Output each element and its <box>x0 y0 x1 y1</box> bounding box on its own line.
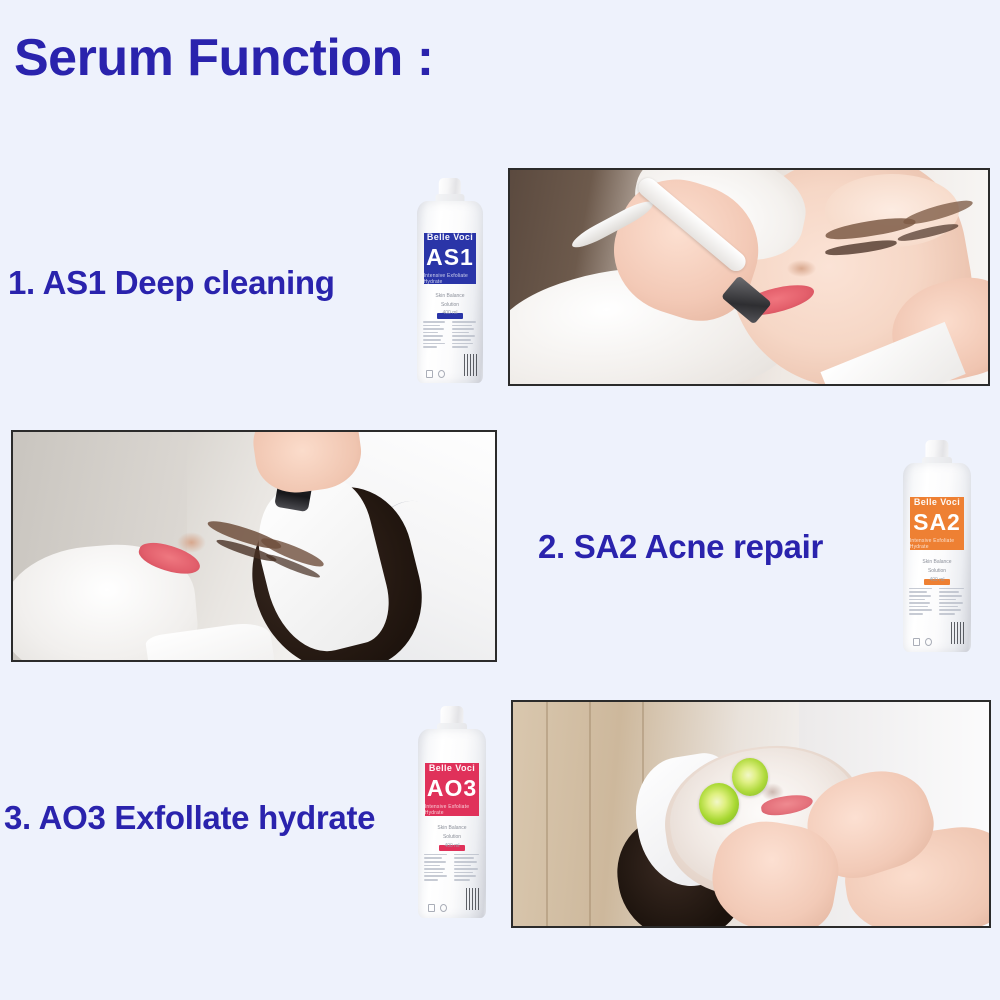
treatment-photo-3 <box>511 700 991 928</box>
bottle-code: AO3 <box>427 777 477 800</box>
serum-bottle-sa2: Belle Voci SA2 Intensive Exfoliate Hydra… <box>903 440 971 652</box>
bottle-volume: 400 ml <box>418 843 486 849</box>
period-after-opening-icon <box>913 638 920 646</box>
serum-bottle-as1: Belle Voci AS1 Intensive Exfoliate Hydra… <box>417 178 483 383</box>
serum-caption-1: 1. AS1 Deep cleaning <box>8 264 335 302</box>
bottle-body: Belle Voci AS1 Intensive Exfoliate Hydra… <box>417 201 483 383</box>
bottle-label-as1: Belle Voci AS1 Intensive Exfoliate Hydra… <box>424 233 477 284</box>
period-after-opening-icon <box>428 904 435 912</box>
serum-bottle-ao3: Belle Voci AO3 Intensive Exfoliate Hydra… <box>418 706 486 918</box>
bottle-symbols <box>428 904 447 912</box>
bottle-code: SA2 <box>913 511 961 534</box>
bottle-symbols <box>426 370 445 378</box>
bottle-sub: Intensive Exfoliate Hydrate <box>425 804 479 816</box>
page-title: Serum Function : <box>14 28 434 88</box>
bottle-brand: Belle Voci <box>429 763 475 773</box>
barcode-icon <box>466 888 480 911</box>
bottle-mid-text: Skin Balance Solution <box>429 824 475 856</box>
photo-2-scene <box>13 432 495 660</box>
bottle-code: AS1 <box>426 246 474 269</box>
treatment-photo-2 <box>11 430 497 662</box>
bottle-volume: 400 ml <box>417 310 483 316</box>
recycle-icon <box>438 370 445 378</box>
recycle-icon <box>440 904 447 912</box>
bottle-body: Belle Voci AO3 Intensive Exfoliate Hydra… <box>418 729 486 918</box>
bottle-label-ao3: Belle Voci AO3 Intensive Exfoliate Hydra… <box>425 763 479 816</box>
barcode-icon <box>464 354 477 376</box>
bottle-mid-text: Skin Balance Solution <box>428 292 473 324</box>
bottle-sub: Intensive Exfoliate Hydrate <box>910 538 964 550</box>
barcode-icon <box>951 622 965 645</box>
photo-3-scene <box>513 702 989 926</box>
period-after-opening-icon <box>426 370 433 378</box>
bottle-label-sa2: Belle Voci SA2 Intensive Exfoliate Hydra… <box>910 497 964 550</box>
serum-caption-2: 2. SA2 Acne repair <box>538 528 823 566</box>
bottle-body: Belle Voci SA2 Intensive Exfoliate Hydra… <box>903 463 971 652</box>
treatment-photo-1 <box>508 168 990 386</box>
bottle-sub: Intensive Exfoliate Hydrate <box>424 273 477 285</box>
recycle-icon <box>925 638 932 646</box>
bottle-brand: Belle Voci <box>914 497 960 507</box>
bottle-symbols <box>913 638 932 646</box>
bottle-brand: Belle Voci <box>427 232 473 242</box>
bottle-volume: 400 ml <box>903 577 971 583</box>
serum-caption-3: 3. AO3 Exfollate hydrate <box>4 799 375 837</box>
bottle-mid-text: Skin Balance Solution <box>914 558 960 590</box>
photo-1-scene <box>510 170 988 384</box>
